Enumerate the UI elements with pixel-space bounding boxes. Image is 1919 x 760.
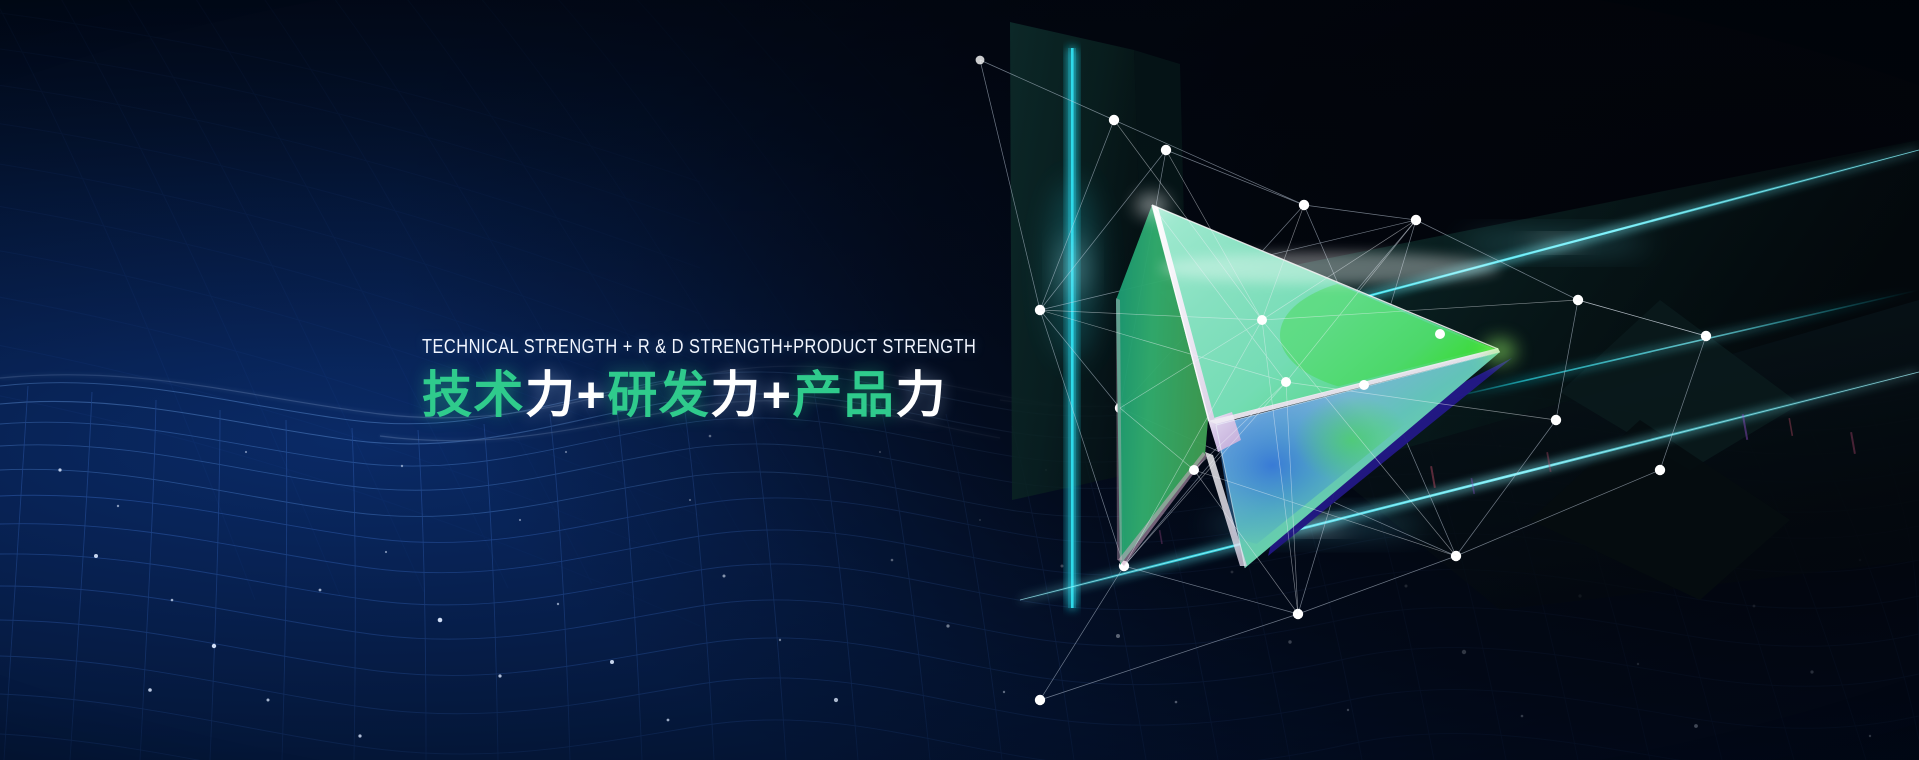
cn-seg-0: 技术 bbox=[422, 367, 525, 423]
cn-seg-2: + bbox=[577, 367, 608, 423]
headline-block: TECHNICAL STRENGTH + R & D STRENGTH+PROD… bbox=[422, 336, 1042, 423]
headline-chinese: 技术力+研发力+产品力 bbox=[422, 367, 1042, 423]
cn-seg-1: 力 bbox=[525, 367, 577, 423]
cn-seg-6: 产品 bbox=[792, 367, 895, 423]
network-nodes bbox=[976, 56, 1712, 706]
cn-seg-5: + bbox=[762, 367, 793, 423]
cn-seg-4: 力 bbox=[710, 367, 762, 423]
network-nodes-front bbox=[1189, 315, 1445, 475]
cn-seg-3: 研发 bbox=[607, 367, 710, 423]
headline-english: TECHNICAL STRENGTH + R & D STRENGTH+PROD… bbox=[422, 336, 918, 359]
cn-seg-7: 力 bbox=[895, 367, 947, 423]
banner-root: TECHNICAL STRENGTH + R & D STRENGTH+PROD… bbox=[0, 0, 1919, 760]
mesh-particles bbox=[58, 435, 1871, 738]
